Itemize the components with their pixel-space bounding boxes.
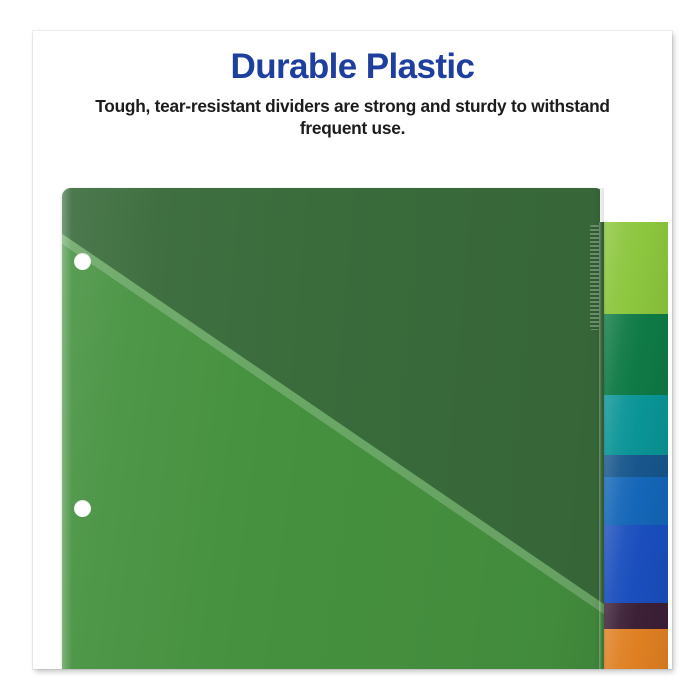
tab-sheen — [600, 603, 668, 629]
sheet-left-edge — [62, 188, 72, 669]
punch-hole-top — [74, 253, 91, 270]
product-photo — [33, 31, 672, 669]
tab-sheen — [600, 477, 668, 525]
tab-sheen — [600, 222, 668, 314]
tab-sheen — [600, 525, 668, 603]
tab-seam-highlight — [599, 222, 602, 669]
tab-light-green — [600, 222, 668, 314]
divider-top-notch — [600, 188, 670, 222]
tab-dark-purple — [600, 603, 668, 629]
tab-sheen — [600, 395, 668, 455]
tab-teal — [600, 395, 668, 455]
tab-blue — [600, 477, 668, 525]
tab-navy-teal — [600, 455, 668, 477]
punch-hole-bottom — [74, 500, 91, 517]
tab-sheen — [600, 314, 668, 395]
tab-orange — [600, 629, 668, 669]
tab-sheen — [600, 629, 668, 669]
tab-sheen — [600, 455, 668, 477]
tab-dark-green — [600, 314, 668, 395]
product-card: Durable Plastic Tough, tear-resistant di… — [33, 31, 672, 669]
perforated-strip — [590, 225, 599, 330]
product-image-canvas: Durable Plastic Tough, tear-resistant di… — [0, 0, 700, 700]
index-tab-stack — [600, 222, 668, 669]
tab-royal-blue — [600, 525, 668, 603]
